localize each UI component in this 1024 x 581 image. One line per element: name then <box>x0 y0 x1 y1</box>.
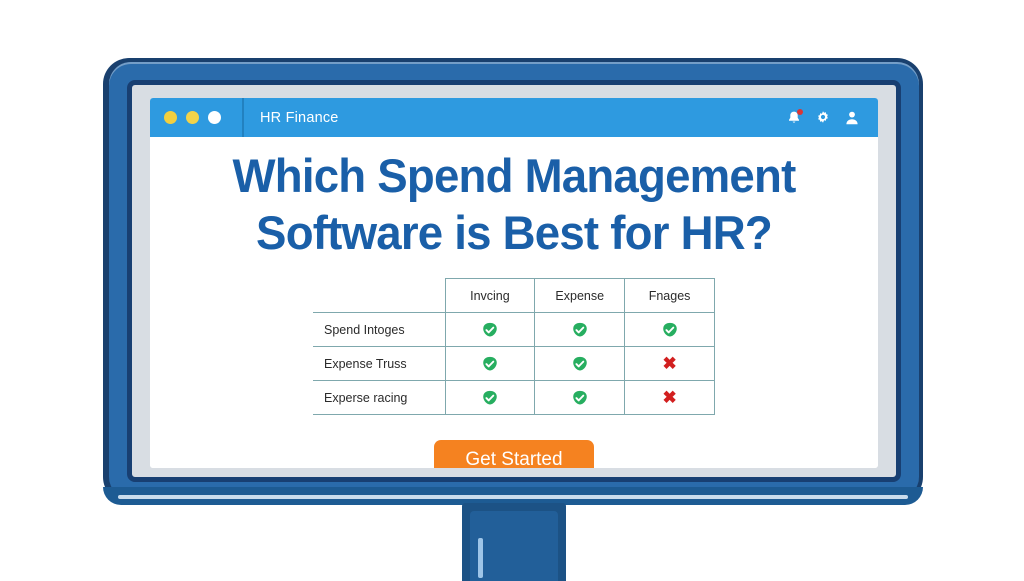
check-icon <box>445 347 535 381</box>
comparison-table-wrapper: Invcing Expense Fnages Spend IntogesExpe… <box>313 278 715 415</box>
column-header-2: Expense <box>535 279 625 313</box>
bell-icon[interactable] <box>786 110 802 126</box>
user-avatar-icon[interactable] <box>844 110 860 126</box>
page-content: Which Spend Management Software is Best … <box>150 137 878 468</box>
gear-icon[interactable] <box>815 110 831 126</box>
monitor-screen: HR Finance <box>150 98 878 468</box>
table-corner-cell <box>313 279 445 313</box>
row-label: Experse racing <box>313 381 445 415</box>
table-header-row: Invcing Expense Fnages <box>313 279 715 313</box>
check-icon <box>535 347 625 381</box>
cross-icon: ✖ <box>625 381 715 415</box>
cross-icon: ✖ <box>625 347 715 381</box>
cross-glyph: ✖ <box>662 354 676 373</box>
monitor-stand-neck-inner <box>470 511 558 581</box>
window-controls[interactable] <box>150 98 244 137</box>
window-control-close[interactable] <box>164 111 177 124</box>
titlebar-icon-group <box>786 110 878 126</box>
window-control-minimize[interactable] <box>186 111 199 124</box>
cta-row: Get Started <box>150 440 878 468</box>
monitor-bottom-highlight <box>118 495 908 499</box>
table-body: Spend IntogesExpense Truss✖Experse racin… <box>313 313 715 415</box>
bell-notification-dot <box>797 109 803 115</box>
cross-glyph: ✖ <box>662 388 676 407</box>
check-icon <box>535 313 625 347</box>
comparison-table: Invcing Expense Fnages Spend IntogesExpe… <box>313 278 715 415</box>
check-icon <box>625 313 715 347</box>
column-header-3: Fnages <box>625 279 715 313</box>
row-label: Spend Intoges <box>313 313 445 347</box>
check-icon <box>445 381 535 415</box>
monitor-stand-highlight <box>478 538 483 578</box>
page-title: Which Spend Management Software is Best … <box>161 147 867 261</box>
row-label: Expense Truss <box>313 347 445 381</box>
illustration-canvas: HR Finance <box>0 0 1024 581</box>
browser-title-bar: HR Finance <box>150 98 878 137</box>
browser-tab-title[interactable]: HR Finance <box>244 110 786 126</box>
table-row: Expense Truss✖ <box>313 347 715 381</box>
table-header: Invcing Expense Fnages <box>313 279 715 313</box>
window-control-maximize[interactable] <box>208 111 221 124</box>
headline-line-1: Which Spend Management <box>233 149 796 202</box>
table-row: Spend Intoges <box>313 313 715 347</box>
check-icon <box>535 381 625 415</box>
headline-line-2: Software is Best for HR? <box>174 204 853 261</box>
column-header-1: Invcing <box>445 279 535 313</box>
get-started-button[interactable]: Get Started <box>434 440 593 468</box>
table-row: Experse racing✖ <box>313 381 715 415</box>
check-icon <box>445 313 535 347</box>
